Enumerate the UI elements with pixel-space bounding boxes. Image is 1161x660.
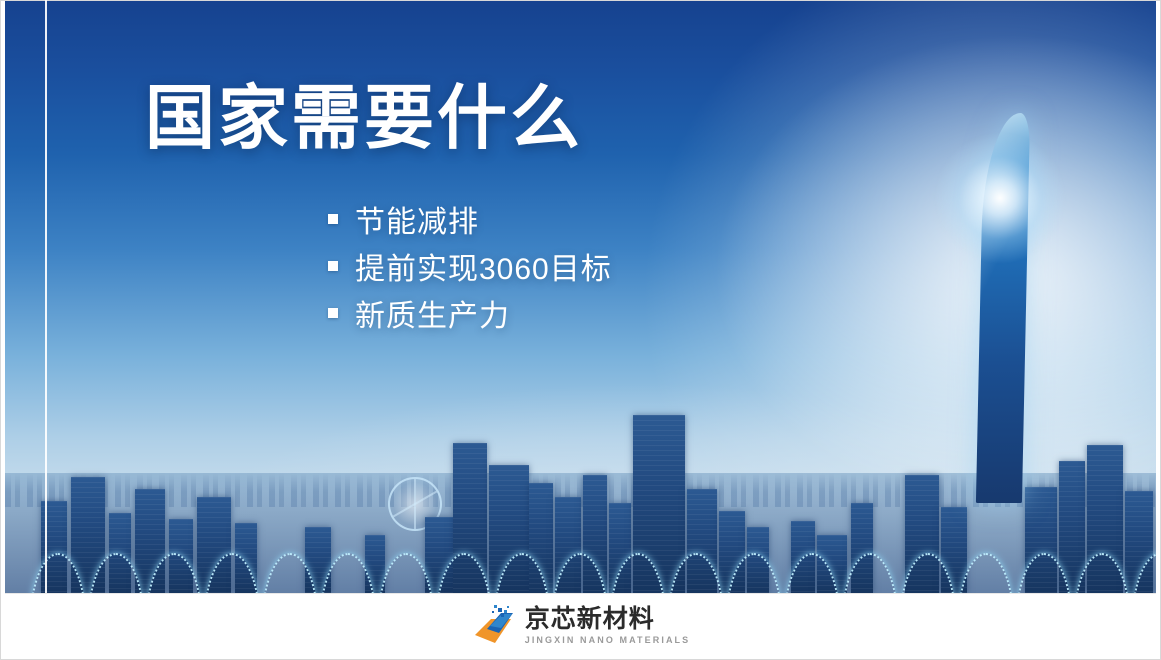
square-bullet-icon (328, 214, 338, 224)
city-skyline (5, 343, 1156, 593)
logo-text: 京芯新材料 JINGXIN NANO MATERIALS (525, 607, 691, 645)
logo-name-en: JINGXIN NANO MATERIALS (525, 636, 691, 645)
bullet-label: 新质生产力 (355, 291, 510, 335)
company-logo: 京芯新材料 JINGXIN NANO MATERIALS (471, 605, 691, 647)
list-item: 新质生产力 (328, 289, 612, 336)
logo-name-cn: 京芯新材料 (525, 607, 691, 632)
bullet-label: 提前实现3060目标 (355, 244, 612, 288)
vertical-accent-line (45, 0, 47, 593)
list-item: 节能减排 (328, 195, 612, 242)
square-bullet-icon (328, 308, 338, 318)
logo-mark-icon (471, 605, 515, 647)
slide: 国家需要什么 节能减排 提前实现3060目标 新质生产力 (0, 0, 1161, 660)
square-bullet-icon (328, 261, 338, 271)
glowing-network-arcs (5, 513, 1156, 593)
bullet-label: 节能减排 (355, 197, 479, 241)
page-title: 国家需要什么 (145, 83, 583, 153)
list-item: 提前实现3060目标 (328, 242, 612, 289)
bullet-list: 节能减排 提前实现3060目标 新质生产力 (328, 195, 612, 336)
footer-bar: 京芯新材料 JINGXIN NANO MATERIALS (5, 593, 1156, 658)
sun-glow (935, 133, 1065, 263)
